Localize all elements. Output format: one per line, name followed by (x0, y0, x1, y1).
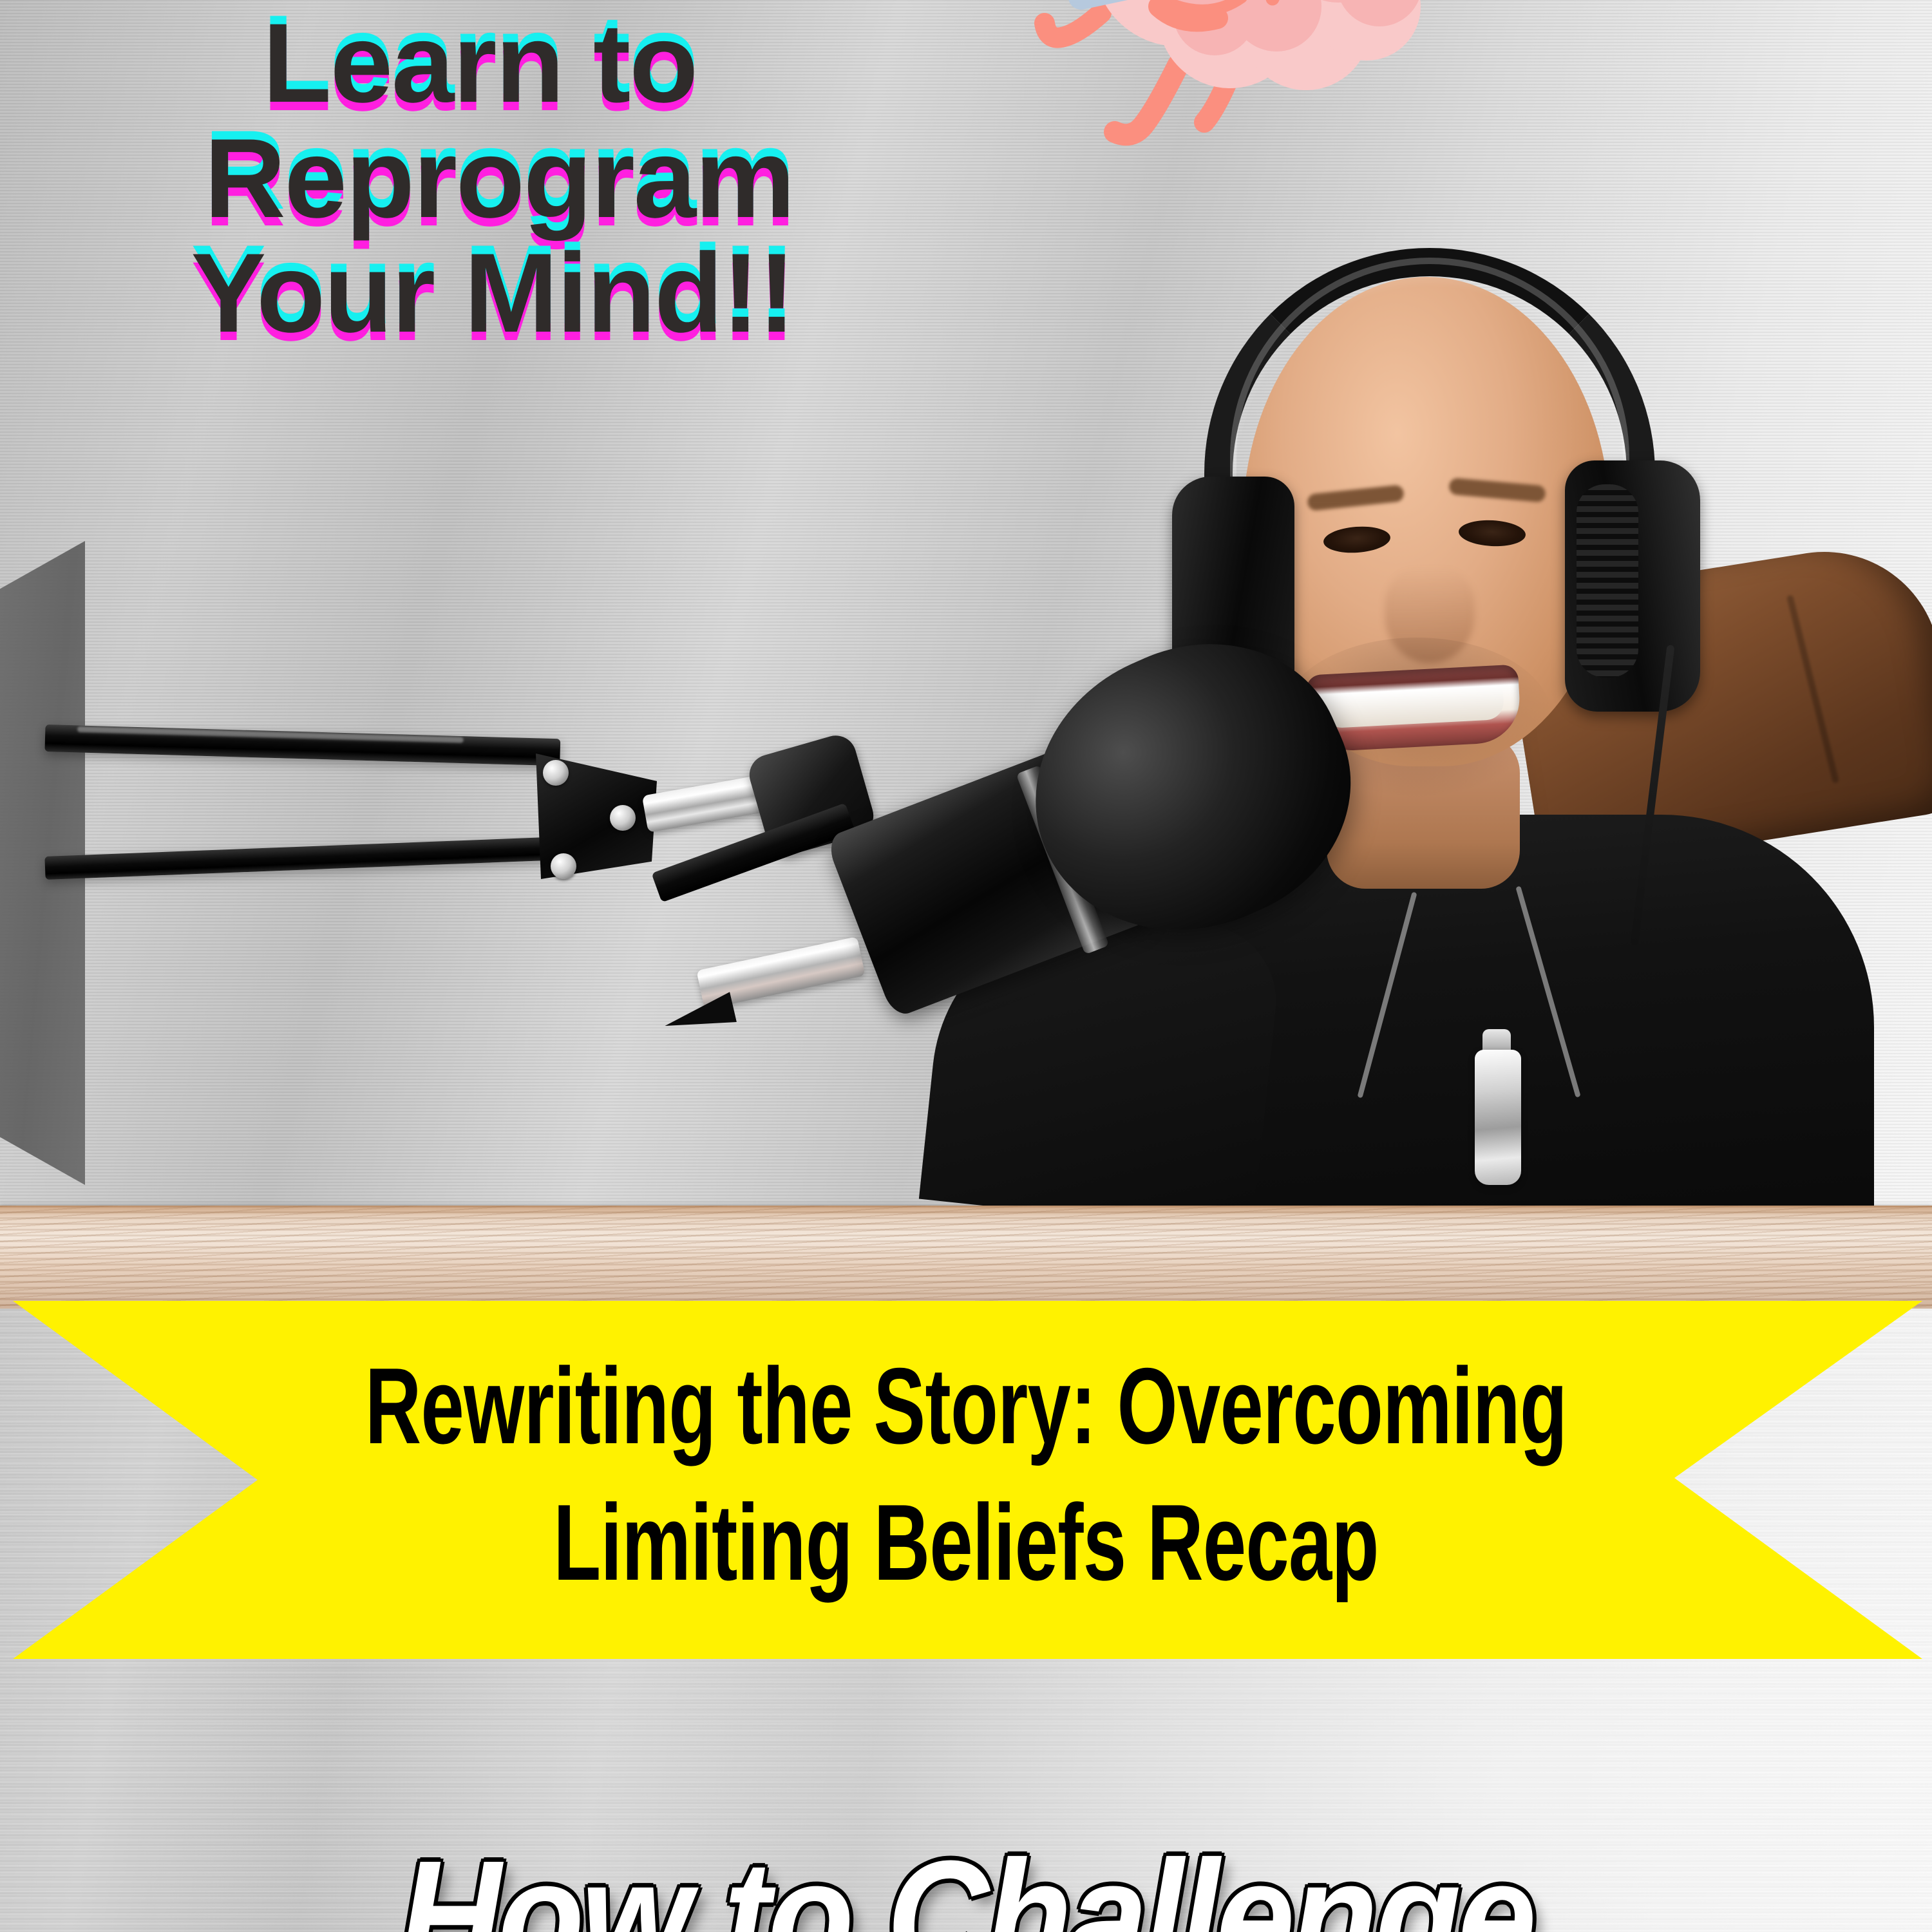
headline-line-2: Reprogram (0, 122, 1005, 237)
headphones-earpad-right (1577, 484, 1638, 677)
page-title: Learn to Reprogram Your Mind!! (0, 6, 1005, 352)
brain-sticker (985, 0, 1423, 155)
brain-with-clipboard-and-magnifier-icon (985, 0, 1423, 155)
wooden-desk (0, 1206, 1932, 1309)
banner-line-1: Rewriting the Story: Overcoming (270, 1338, 1662, 1475)
bracket-screw-icon (610, 805, 636, 831)
bracket-screw-icon (551, 853, 576, 879)
crystal-pendant (1475, 1050, 1521, 1185)
headline-line-1: Learn to (0, 6, 1005, 122)
poster-canvas: Learn to Reprogram Your Mind!! (0, 0, 1932, 1932)
bracket-screw-icon (543, 760, 569, 786)
banner-line-2: Limiting Beliefs Recap (270, 1475, 1662, 1611)
episode-title-banner: Rewriting the Story: Overcoming Limiting… (0, 1301, 1932, 1662)
subtitle-text: How to Challenge (116, 1837, 1816, 1932)
headline-line-3: Your Mind!! (0, 236, 1005, 352)
episode-title-text: Rewriting the Story: Overcoming Limiting… (270, 1338, 1662, 1611)
